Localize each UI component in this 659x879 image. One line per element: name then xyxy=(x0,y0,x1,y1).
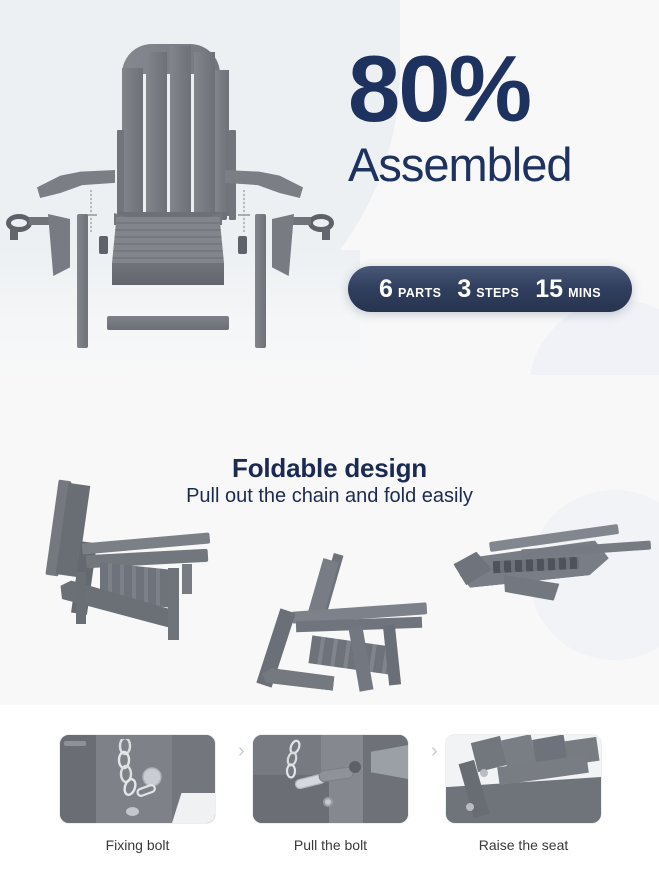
seat-top-slats xyxy=(112,217,224,263)
spec-steps-number: 3 xyxy=(457,277,471,302)
cup-holder-right xyxy=(288,214,338,240)
spec-parts-label: PARTS xyxy=(398,286,441,300)
bracket-left xyxy=(99,236,108,254)
backrest-slat xyxy=(170,46,191,216)
cup-holder-stem xyxy=(322,228,330,240)
leg-straight-left xyxy=(77,214,88,348)
backrest-slat xyxy=(215,70,229,216)
bracket-right xyxy=(238,236,247,254)
screw-left xyxy=(90,190,92,232)
backrest-slat xyxy=(194,52,215,216)
leg-folded-right xyxy=(383,625,401,686)
step-item-3: Raise the seat xyxy=(446,735,601,853)
spec-steps: 3 STEPS xyxy=(457,277,519,302)
assembled-label: Assembled xyxy=(348,140,648,191)
spec-parts-number: 6 xyxy=(379,277,393,302)
step-item-1: Fixing bolt xyxy=(60,735,215,853)
armrest-right xyxy=(225,170,303,198)
backrest-slat xyxy=(122,68,143,216)
photo-pivot-bolt-top xyxy=(480,769,488,777)
step-caption-2: Pull the bolt xyxy=(253,837,408,853)
step-photo-pull-bolt xyxy=(253,735,408,823)
foldable-design-panel: Foldable design Pull out the chain and f… xyxy=(0,375,659,705)
backrest-post-left xyxy=(117,130,124,220)
armrest-left xyxy=(37,170,115,198)
photo-screw xyxy=(323,797,333,807)
step-photo-raise-seat xyxy=(446,735,601,823)
leg-straight-right xyxy=(255,214,266,348)
step-photo-fixing-bolt xyxy=(60,735,215,823)
leg-curved-right xyxy=(272,214,294,276)
cup-holder-ring xyxy=(308,214,334,232)
spec-mins: 15 MINS xyxy=(535,277,601,302)
leg-curved-left xyxy=(48,214,70,276)
percent-value: 80% xyxy=(348,44,648,134)
cup-holder-left xyxy=(2,214,52,240)
front-rail-folded xyxy=(261,667,334,690)
steps-panel: Fixing bolt › Pull the bolt › xyxy=(0,705,659,879)
fold-stage-partial xyxy=(258,553,433,698)
leg-front-left xyxy=(76,572,86,624)
step-caption-1: Fixing bolt xyxy=(60,837,215,853)
step-separator-2: › xyxy=(431,741,438,761)
chain-icon xyxy=(104,739,174,819)
photo-pivot-bolt-bottom xyxy=(466,803,474,811)
cup-holder-stem xyxy=(10,228,18,240)
spec-mins-number: 15 xyxy=(535,277,563,302)
fold-stage-unfolded xyxy=(30,480,215,645)
bottom-cross-rail xyxy=(107,316,229,330)
photo-bolt-head xyxy=(126,807,139,816)
spec-badge: 6 PARTS 3 STEPS 15 MINS xyxy=(348,266,632,312)
spec-steps-label: STEPS xyxy=(476,286,519,300)
leg-rear xyxy=(168,568,179,640)
step-caption-3: Raise the seat xyxy=(446,837,601,853)
photo-panel-left xyxy=(60,735,96,823)
seat-front-panel xyxy=(112,263,224,285)
hero-panel: 80% Assembled 6 PARTS 3 STEPS 15 MINS xyxy=(0,0,659,375)
backrest-slat xyxy=(146,52,167,216)
step-separator-1: › xyxy=(238,741,245,761)
leg-rear-brace xyxy=(182,564,192,594)
spec-badge-wrapper: 6 PARTS 3 STEPS 15 MINS xyxy=(348,266,632,312)
spec-mins-label: MINS xyxy=(568,286,601,300)
photo-screw-mark xyxy=(64,741,86,746)
spec-parts: 6 PARTS xyxy=(379,277,441,302)
fold-stage-flat xyxy=(445,523,645,613)
screw-head-right xyxy=(238,214,250,216)
seat-assembly xyxy=(112,213,224,291)
exploded-chair-diagram xyxy=(0,18,340,368)
headline-block: 80% Assembled xyxy=(348,44,648,191)
step-item-2: Pull the bolt xyxy=(253,735,408,853)
screw-right xyxy=(243,190,245,232)
